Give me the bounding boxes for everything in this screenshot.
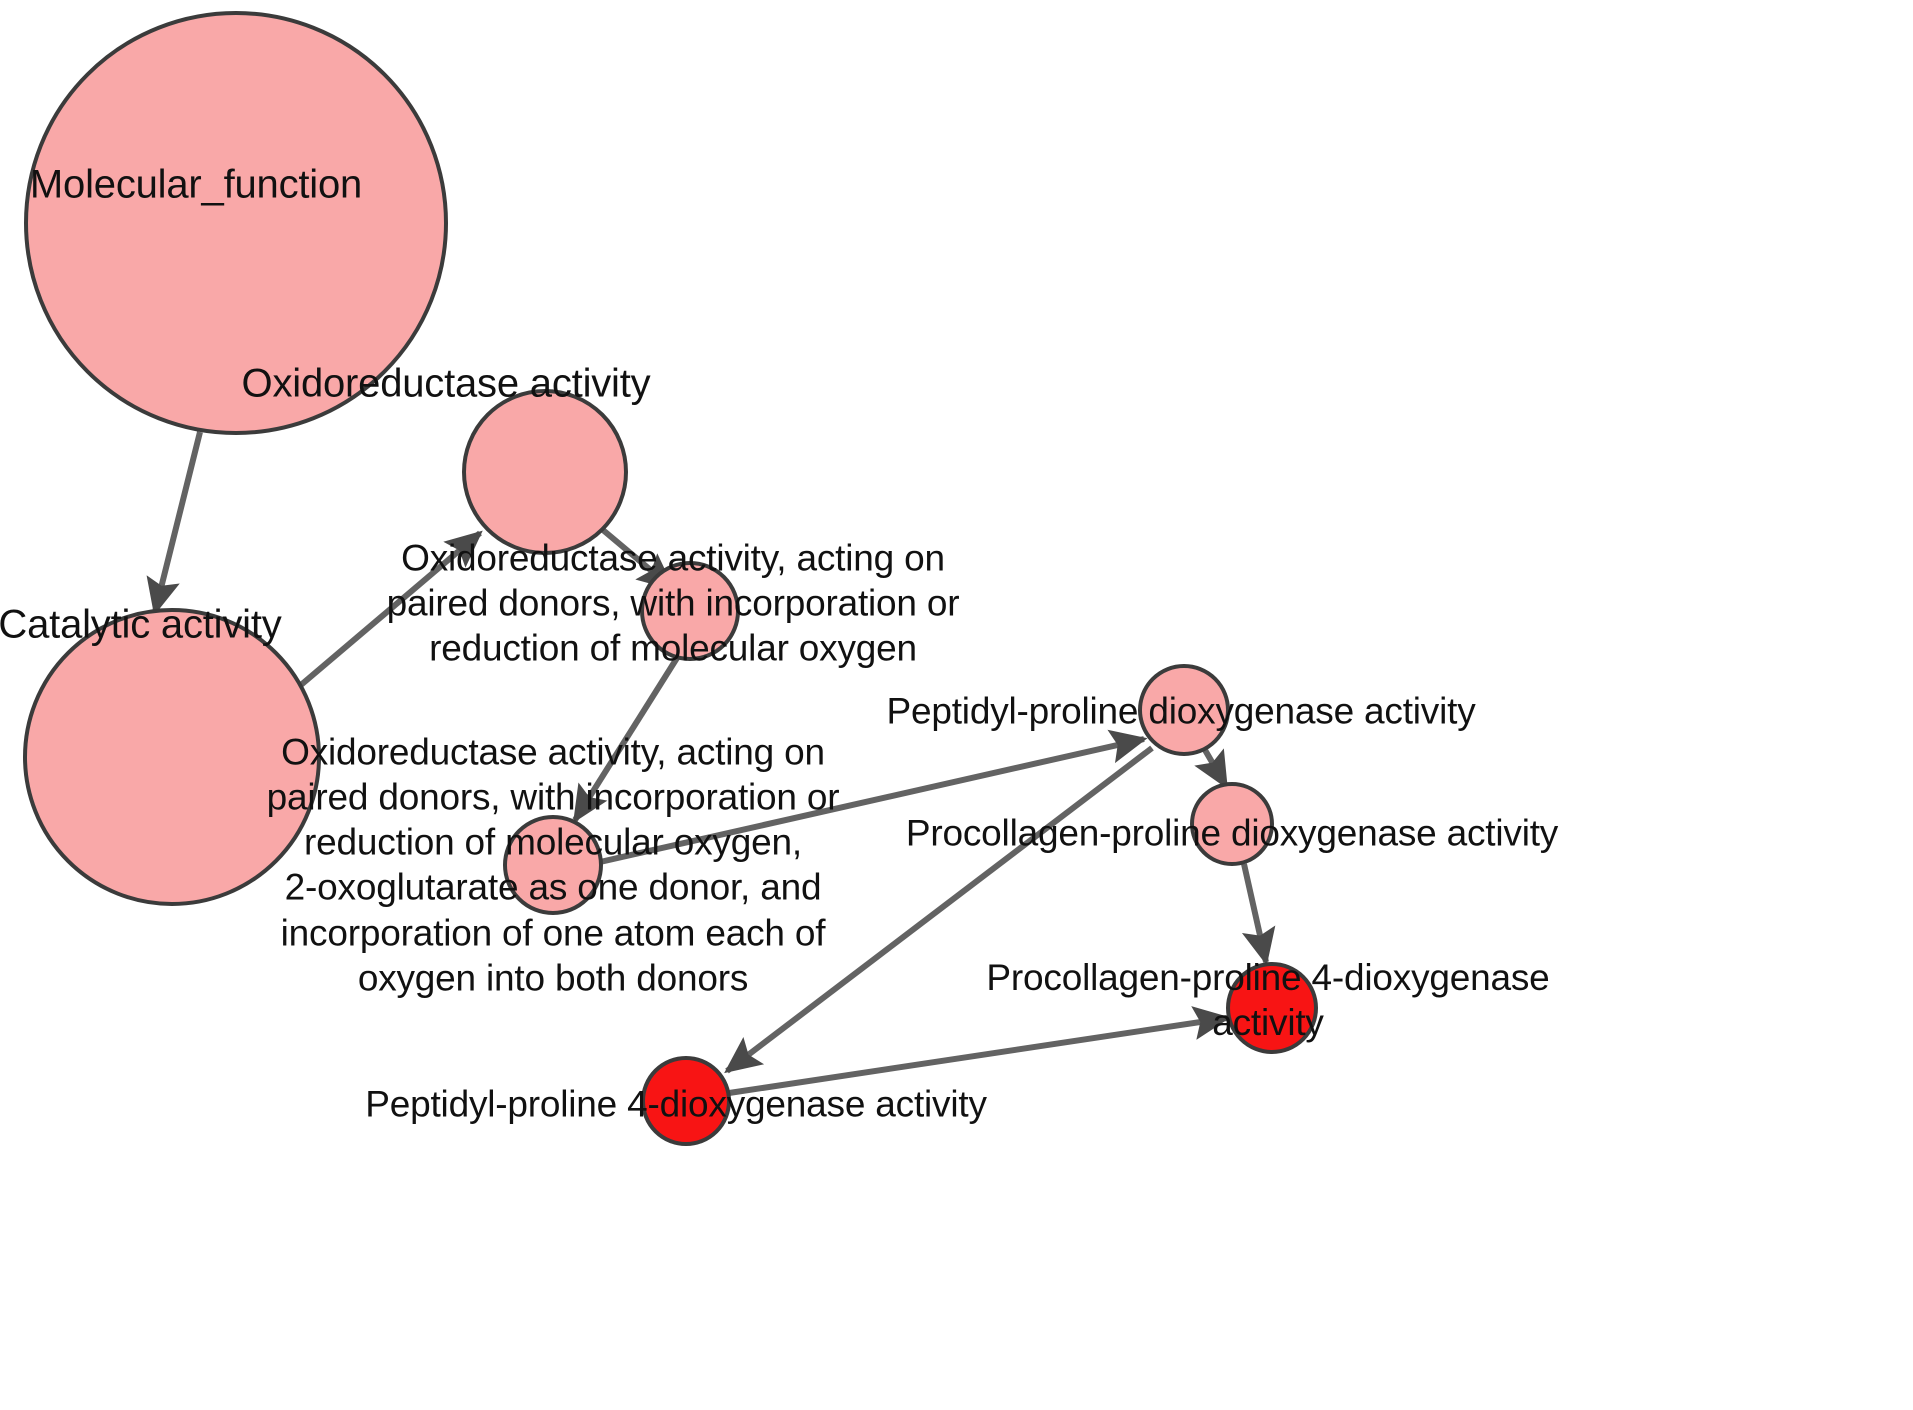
node-oxidoreductase-2-oxoglutarate[interactable]: [505, 817, 601, 913]
edge-paired-to-oxoglutarate: [575, 658, 677, 820]
edge-procollagen-dioxy-to-procollagen-4-dioxy: [1244, 864, 1266, 962]
node-oxidoreductase-activity[interactable]: [464, 391, 626, 553]
edge-peptidyl-dioxy-to-procollagen-dioxy: [1205, 750, 1226, 786]
edge-peptidyl-dioxy-to-peptidyl-4-dioxy: [727, 748, 1152, 1071]
gene-ontology-graph: Molecular_functionCatalytic activityOxid…: [0, 0, 1913, 1410]
node-procollagen-proline-4-dioxygenase-activity[interactable]: [1228, 964, 1316, 1052]
edge-mf-to-ca: [155, 432, 200, 612]
node-catalytic-activity[interactable]: [25, 610, 319, 904]
node-peptidyl-proline-4-dioxygenase-activity[interactable]: [643, 1058, 729, 1144]
edge-peptidyl-4-dioxy-to-procollagen-4-dioxy: [729, 1018, 1227, 1093]
node-procollagen-proline-dioxygenase-activity[interactable]: [1192, 784, 1272, 864]
edge-oxoglutarate-to-peptidyl-dioxygenase: [600, 739, 1144, 862]
graph-svg: [0, 0, 1913, 1410]
edges-layer: [155, 432, 1266, 1093]
edge-ca-to-ox: [295, 533, 480, 690]
node-molecular-function[interactable]: [26, 13, 446, 433]
node-oxidoreductase-paired-donors[interactable]: [642, 563, 738, 659]
node-peptidyl-proline-dioxygenase-activity[interactable]: [1140, 666, 1228, 754]
nodes-layer: [25, 13, 1316, 1144]
